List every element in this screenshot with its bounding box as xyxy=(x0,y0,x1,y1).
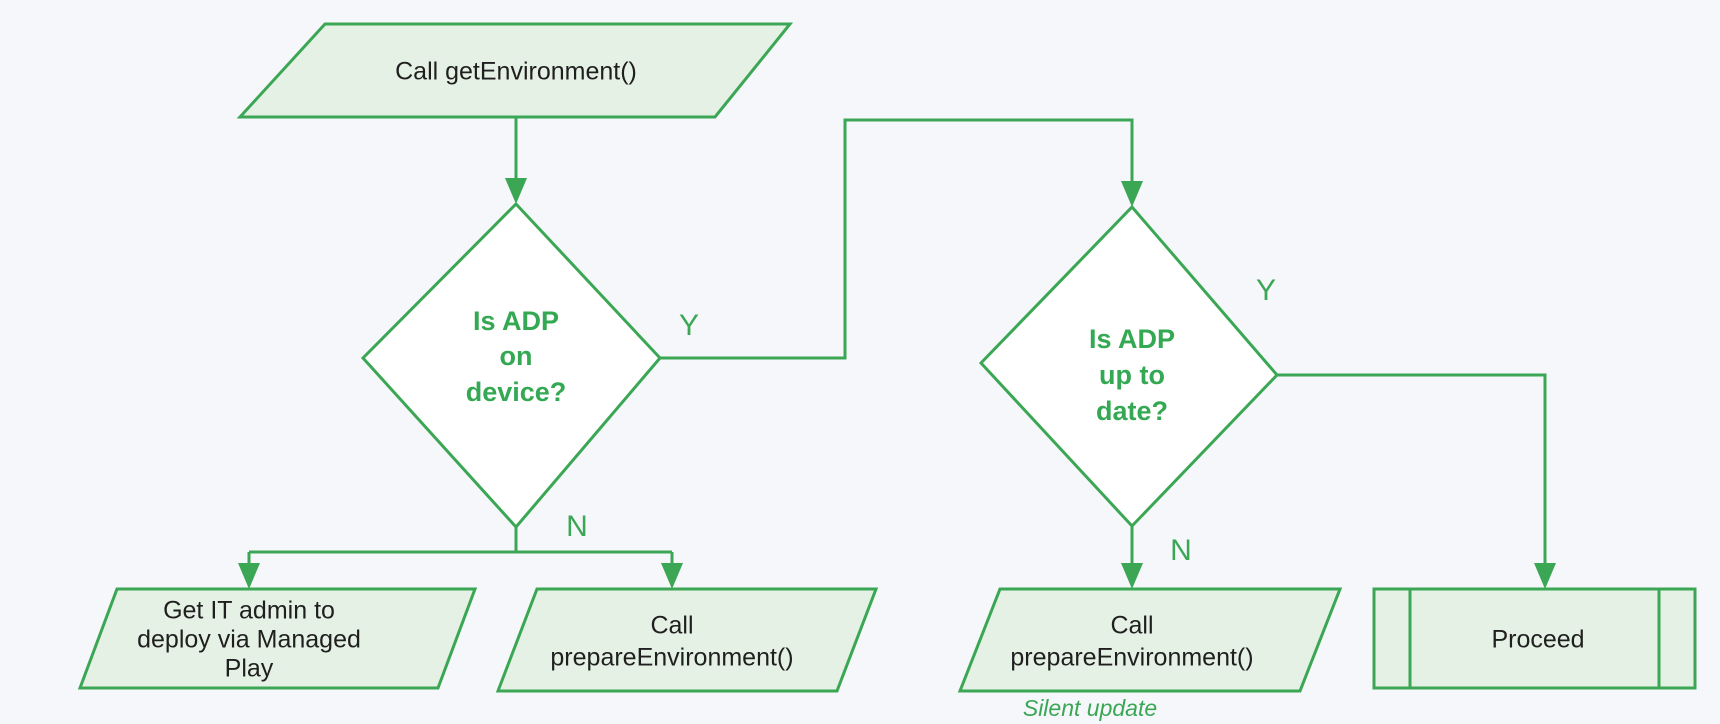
branch-label-device-yes: Y xyxy=(679,309,699,342)
node-get-it-admin[interactable]: Get IT admin to deploy via Managed Play xyxy=(80,589,475,688)
prepare-environment-left-shape xyxy=(498,589,876,691)
branch-label-uptodate-yes: Y xyxy=(1256,274,1276,307)
node-call-get-environment[interactable]: Call getEnvironment() xyxy=(240,24,790,117)
call-get-environment-label: Call getEnvironment() xyxy=(395,58,637,86)
proceed-label: Proceed xyxy=(1491,626,1584,654)
prepare-environment-right-line1: Call xyxy=(1110,612,1153,640)
arrow-head-device xyxy=(505,178,527,204)
prepare-environment-left-line2: prepareEnvironment() xyxy=(550,644,793,672)
arrow-head-prepare-left xyxy=(661,563,683,589)
get-it-admin-line2: deploy via Managed xyxy=(137,626,361,654)
node-proceed[interactable]: Proceed xyxy=(1374,589,1695,688)
arrow-head-it-admin xyxy=(238,563,260,589)
flowchart-svg: Call getEnvironment() Is ADP on device? … xyxy=(0,0,1720,724)
connector-uptodate-yes xyxy=(1277,375,1545,570)
decision-adp-up-to-date-line3: date? xyxy=(1096,396,1168,426)
branch-label-device-no: N xyxy=(566,510,588,543)
decision-adp-on-device-line2: on xyxy=(500,341,533,371)
get-it-admin-line1: Get IT admin to xyxy=(163,597,335,625)
node-decision-adp-up-to-date[interactable]: Is ADP up to date? xyxy=(981,207,1277,526)
node-prepare-environment-left[interactable]: Call prepareEnvironment() xyxy=(498,589,876,691)
arrow-head-proceed xyxy=(1534,563,1556,589)
arrow-head-uptodate xyxy=(1121,181,1143,207)
prepare-environment-right-shape xyxy=(960,589,1340,691)
prepare-environment-left-line1: Call xyxy=(650,612,693,640)
decision-adp-on-device-line3: device? xyxy=(466,377,567,407)
decision-adp-up-to-date-line2: up to xyxy=(1099,360,1165,390)
node-prepare-environment-right[interactable]: Call prepareEnvironment() xyxy=(960,589,1340,691)
get-it-admin-line3: Play xyxy=(225,655,274,683)
silent-update-caption: Silent update xyxy=(1023,695,1157,721)
prepare-environment-right-line2: prepareEnvironment() xyxy=(1010,644,1253,672)
arrow-head-prepare-right xyxy=(1121,563,1143,589)
branch-label-uptodate-no: N xyxy=(1170,534,1192,567)
decision-adp-on-device-line1: Is ADP xyxy=(473,306,559,336)
flowchart-canvas: Call getEnvironment() Is ADP on device? … xyxy=(0,0,1720,724)
decision-adp-up-to-date-line1: Is ADP xyxy=(1089,324,1175,354)
node-decision-adp-on-device[interactable]: Is ADP on device? xyxy=(363,204,660,527)
